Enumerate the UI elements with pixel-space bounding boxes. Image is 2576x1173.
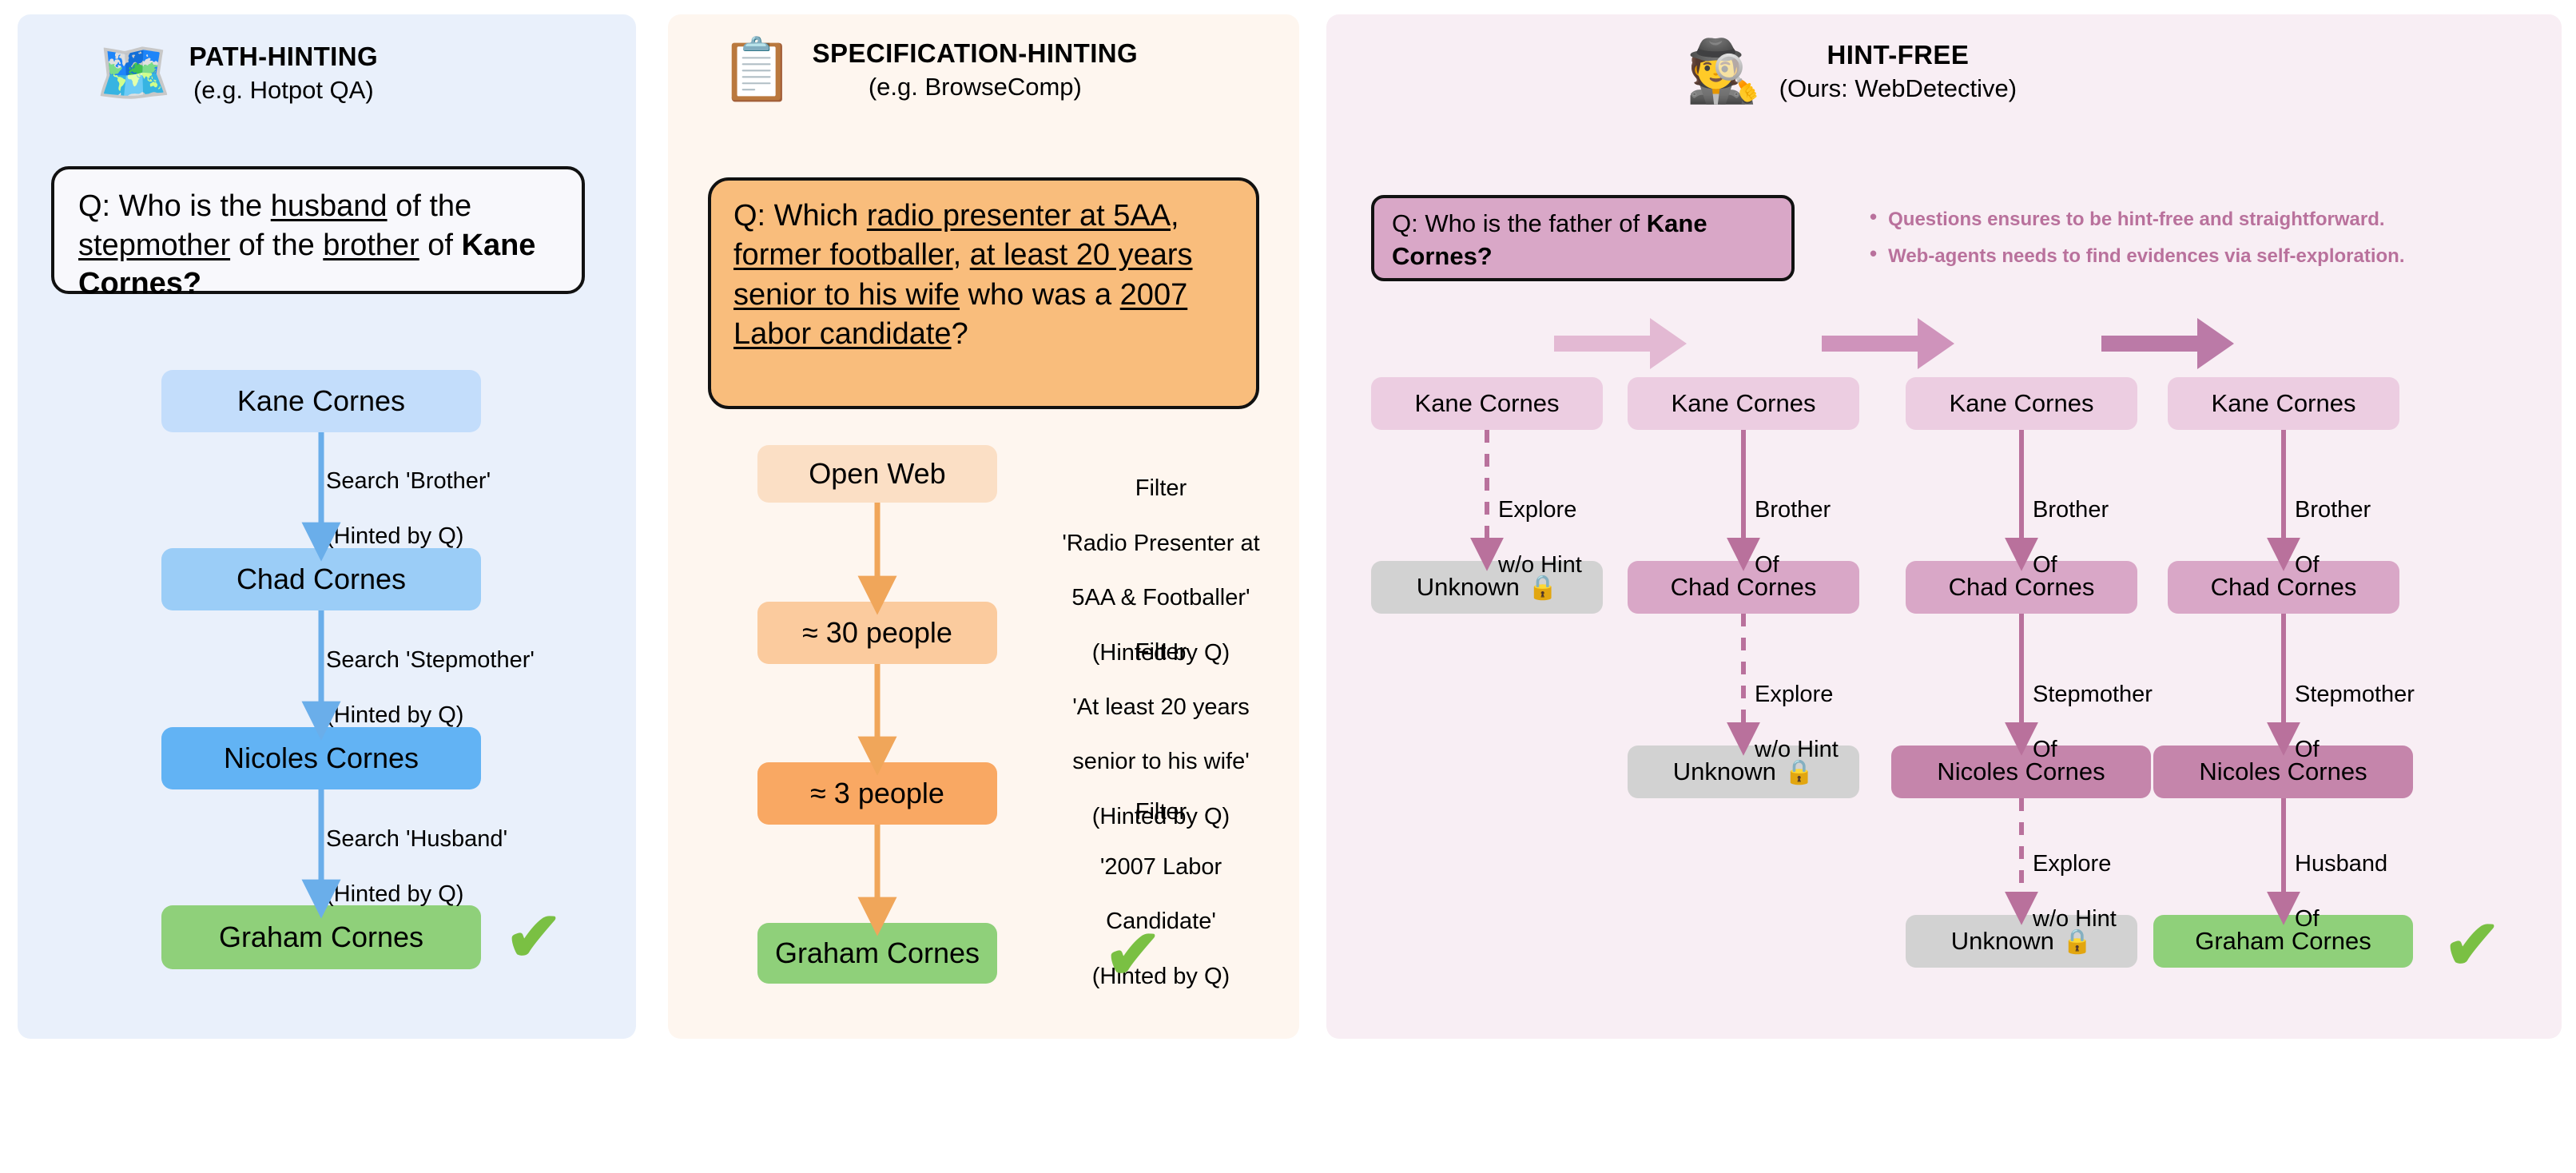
- path-node-1: Chad Cornes: [161, 548, 481, 610]
- hint-col3-edge-2-l1: Husband: [2295, 851, 2387, 877]
- q-path-hint-3: brother: [323, 229, 419, 262]
- q-spec-hint-1: radio presenter at 5AA: [867, 199, 1171, 233]
- path-edge-1-line1: Search 'Stepmother': [326, 647, 535, 673]
- q-spec-prefix: Q: Which: [733, 199, 867, 233]
- hint-free-question: Q: Who is the father of Kane Cornes?: [1371, 195, 1795, 281]
- hint-col2-edge-0-l2: Of: [2033, 552, 2057, 578]
- hint-col3-edge-2-l2: Of: [2295, 906, 2320, 932]
- hint-col0-node-0: Kane Cornes: [1371, 377, 1603, 430]
- hint-col3-edge-1-l2: Of: [2295, 737, 2320, 762]
- path-hinting-header: 🗺️ PATH-HINTING (e.g. Hotpot QA): [96, 42, 378, 105]
- path-hinting-subtitle: (e.g. Hotpot QA): [193, 76, 374, 105]
- spec-node-0-label: Open Web: [809, 457, 945, 491]
- spec-node-2-label: ≈ 3 people: [810, 777, 944, 810]
- hint-col1-node-0-label: Kane Cornes: [1672, 389, 1816, 418]
- path-edge-2-label: Search 'Husband' (Hinted by Q): [326, 798, 507, 908]
- hint-col3-edge-0-label: Brother Of: [2295, 469, 2371, 579]
- hint-free-title: HINT-FREE: [1827, 40, 1969, 70]
- hint-col1-edge-1-l1: Explore: [1755, 682, 1833, 707]
- hint-col3-edge-0-l1: Brother: [2295, 497, 2371, 523]
- spec-hinting-header: 📋 SPECIFICATION-HINTING (e.g. BrowseComp…: [719, 38, 1138, 101]
- hint-col2-edge-1-l2: Of: [2033, 737, 2057, 762]
- spec-filter-0-l3: 5AA & Footballer': [1071, 585, 1250, 610]
- figure-canvas: 🗺️ PATH-HINTING (e.g. Hotpot QA) Q: Who …: [0, 0, 2576, 1173]
- hint-free-bullet-1-text: Web-agents needs to find evidences via s…: [1888, 238, 2404, 275]
- q-path-prefix: Q: Who is the: [78, 189, 271, 223]
- hint-col3-edge-1-label: Stepmother Of: [2295, 654, 2415, 763]
- hint-col2-node-0-label: Kane Cornes: [1950, 389, 2094, 418]
- path-node-3-label: Graham Cornes: [219, 921, 423, 954]
- route-map-icon: 🗺️: [96, 43, 172, 104]
- spec-node-3-label: Graham Cornes: [775, 936, 980, 970]
- q-spec-hint-2: former footballer: [733, 238, 953, 272]
- hint-col1-edge-0-label: Brother Of: [1755, 469, 1831, 579]
- hint-col2-edge-2-l1: Explore: [2033, 851, 2111, 877]
- hint-col3-node-0: Kane Cornes: [2168, 377, 2399, 430]
- hint-col1-edge-0-l2: Of: [1755, 552, 1779, 578]
- clipboard-checklist-icon: 📋: [719, 40, 795, 101]
- spec-filter-2-l1: Filter: [1135, 799, 1187, 825]
- path-edge-0-line2: (Hinted by Q): [326, 523, 463, 549]
- path-edge-2-line1: Search 'Husband': [326, 826, 507, 852]
- path-node-0-label: Kane Cornes: [237, 384, 405, 418]
- spec-node-0: Open Web: [757, 445, 997, 503]
- spec-filter-1-l2: 'At least 20 years: [1072, 694, 1250, 720]
- hint-col2-node-0: Kane Cornes: [1906, 377, 2137, 430]
- spec-filter-2-l2: '2007 Labor: [1100, 854, 1222, 880]
- path-node-1-label: Chad Cornes: [237, 563, 406, 596]
- path-edge-0-label: Search 'Brother' (Hinted by Q): [326, 440, 491, 550]
- hint-col2-edge-0-l1: Brother: [2033, 497, 2109, 523]
- spec-node-1: ≈ 30 people: [757, 602, 997, 664]
- spec-filter-1-l1: Filter: [1135, 639, 1187, 665]
- path-hinting-question: Q: Who is the husband of the stepmother …: [51, 166, 585, 294]
- hint-col1-edge-1-l2: w/o Hint: [1755, 737, 1839, 762]
- spec-correct-check-icon: ✔: [1104, 921, 1162, 989]
- hint-col0-node-0-label: Kane Cornes: [1415, 389, 1560, 418]
- spec-node-2: ≈ 3 people: [757, 762, 997, 825]
- path-node-2: Nicoles Cornes: [161, 727, 481, 789]
- hint-col2-edge-2-label: Explore w/o Hint: [2033, 823, 2117, 932]
- path-node-3: Graham Cornes: [161, 905, 481, 969]
- hint-col0-edge-0-l2: w/o Hint: [1498, 552, 1582, 578]
- hint-free-bullet-0-text: Questions ensures to be hint-free and st…: [1888, 201, 2384, 238]
- path-node-2-label: Nicoles Cornes: [224, 742, 419, 775]
- detective-icon: 🕵️: [1686, 42, 1762, 102]
- q-path-hint-2: stepmother: [78, 229, 230, 262]
- path-correct-check-icon: ✔: [505, 903, 563, 972]
- hint-col1-edge-0-l1: Brother: [1755, 497, 1831, 523]
- hint-col3-edge-1-l1: Stepmother: [2295, 682, 2415, 707]
- hint-col2-edge-2-l2: w/o Hint: [2033, 906, 2117, 932]
- hint-col3-edge-2-label: Husband Of: [2295, 823, 2387, 932]
- spec-hinting-title: SPECIFICATION-HINTING: [813, 38, 1138, 69]
- spec-node-3: Graham Cornes: [757, 923, 997, 984]
- hint-col1-node-0: Kane Cornes: [1628, 377, 1859, 430]
- path-node-0: Kane Cornes: [161, 370, 481, 432]
- path-edge-1-label: Search 'Stepmother' (Hinted by Q): [326, 619, 535, 729]
- q-hint-text: Q: Who is the father of: [1392, 209, 1647, 237]
- hint-col0-edge-0-label: Explore w/o Hint: [1498, 469, 1582, 579]
- path-edge-0-line1: Search 'Brother': [326, 468, 491, 494]
- spec-filter-0-l1: Filter: [1135, 475, 1187, 501]
- path-hinting-title: PATH-HINTING: [189, 42, 378, 72]
- hint-col2-edge-0-label: Brother Of: [2033, 469, 2109, 579]
- hint-col3-edge-0-l2: Of: [2295, 552, 2320, 578]
- hint-col0-edge-0-l1: Explore: [1498, 497, 1576, 523]
- spec-filter-0-l2: 'Radio Presenter at: [1062, 531, 1259, 556]
- spec-node-1-label: ≈ 30 people: [802, 616, 952, 650]
- q-path-hint-1: husband: [271, 189, 388, 223]
- path-edge-1-line2: (Hinted by Q): [326, 702, 463, 728]
- hint-free-subtitle: (Ours: WebDetective): [1779, 74, 2017, 103]
- spec-hinting-question: Q: Which radio presenter at 5AA, former …: [708, 177, 1259, 409]
- hint-correct-check-icon: ✔: [2443, 911, 2501, 980]
- hint-free-bullet-0: • Questions ensures to be hint-free and …: [1870, 201, 2533, 238]
- bullet-dot-icon: •: [1870, 238, 1877, 269]
- hint-free-bullets: • Questions ensures to be hint-free and …: [1870, 201, 2533, 274]
- hint-col2-edge-1-label: Stepmother Of: [2033, 654, 2153, 763]
- hint-col1-edge-1-label: Explore w/o Hint: [1755, 654, 1839, 763]
- spec-hinting-subtitle: (e.g. BrowseComp): [869, 73, 1082, 101]
- hint-col3-node-0-label: Kane Cornes: [2212, 389, 2356, 418]
- hint-col2-edge-1-l1: Stepmother: [2033, 682, 2153, 707]
- hint-free-header: 🕵️ HINT-FREE (Ours: WebDetective): [1686, 40, 2017, 103]
- bullet-dot-icon: •: [1870, 201, 1877, 233]
- hint-free-bullet-1: • Web-agents needs to find evidences via…: [1870, 238, 2533, 275]
- path-edge-2-line2: (Hinted by Q): [326, 881, 463, 907]
